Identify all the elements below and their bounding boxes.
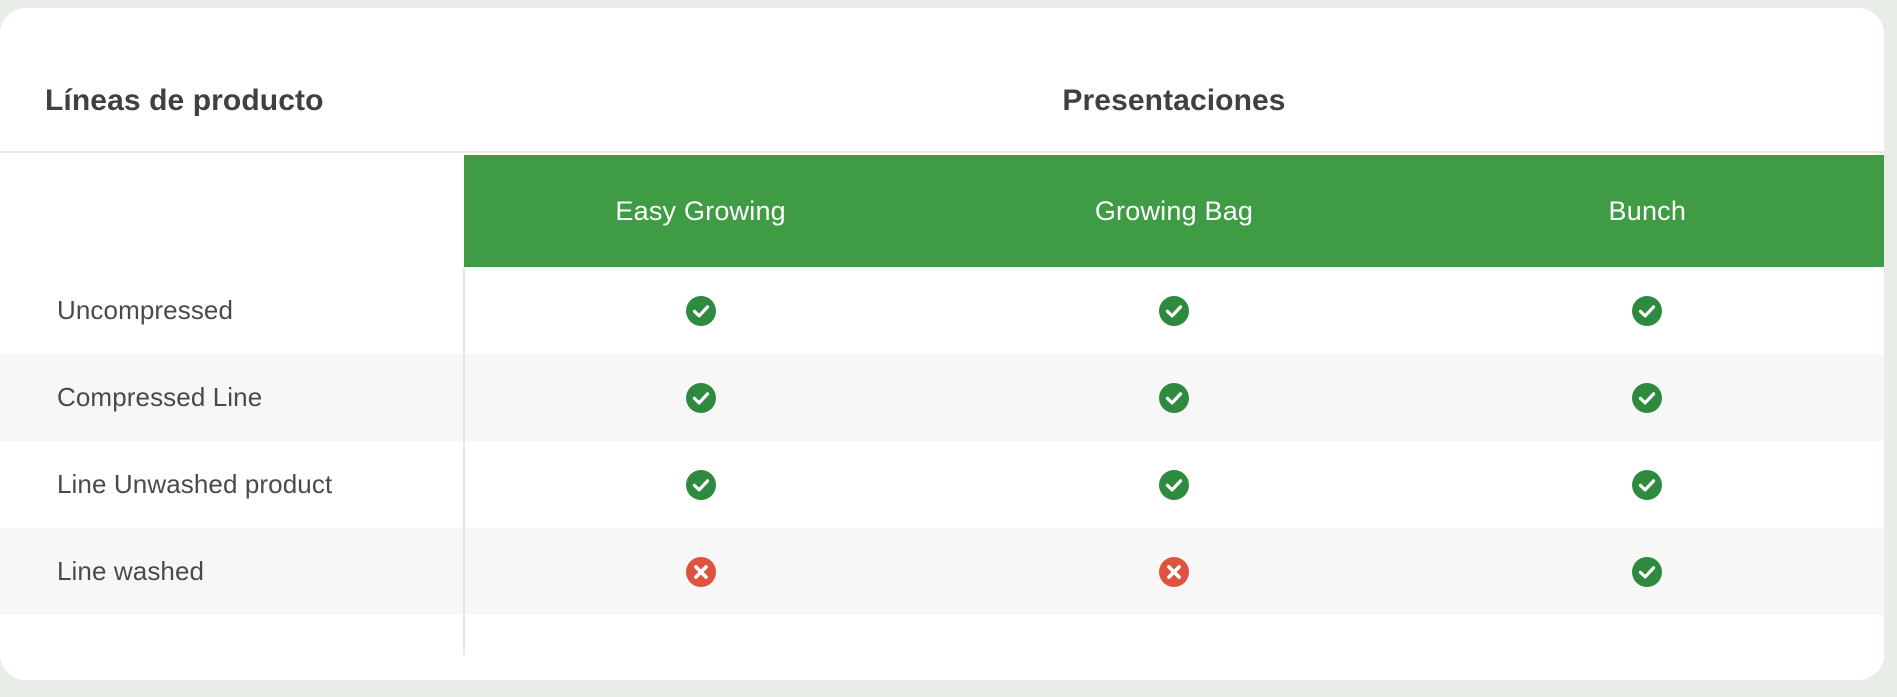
cell-line-washed-easy-growing — [464, 528, 937, 615]
check-circle-icon — [1159, 470, 1189, 500]
check-circle-icon — [1632, 296, 1662, 326]
column-header-easy-growing: Easy Growing — [464, 155, 937, 267]
cell-uncompressed-growing-bag — [937, 267, 1410, 354]
cell-compressed-line-easy-growing — [464, 354, 937, 441]
row-label-line-unwashed-product: Line Unwashed product — [0, 469, 464, 500]
table-row: Line washed — [0, 528, 1884, 615]
cell-line-washed-growing-bag — [937, 528, 1410, 615]
cell-line-washed-bunch — [1411, 528, 1884, 615]
check-circle-icon — [1632, 383, 1662, 413]
comparison-card: Líneas de producto Presentaciones Easy G… — [0, 8, 1884, 680]
column-header-bunch: Bunch — [1411, 155, 1884, 267]
row-label-uncompressed: Uncompressed — [0, 295, 464, 326]
row-label-compressed-line: Compressed Line — [0, 382, 464, 413]
check-circle-icon — [1632, 557, 1662, 587]
table-row: Uncompressed — [0, 267, 1884, 354]
check-circle-icon — [1632, 470, 1662, 500]
cell-line-unwashed-product-easy-growing — [464, 441, 937, 528]
header-corner-cell — [0, 155, 464, 267]
check-circle-icon — [686, 470, 716, 500]
table-row: Compressed Line — [0, 354, 1884, 441]
cell-line-unwashed-product-growing-bag — [937, 441, 1410, 528]
cell-compressed-line-bunch — [1411, 354, 1884, 441]
cell-compressed-line-growing-bag — [937, 354, 1410, 441]
cross-circle-icon — [686, 557, 716, 587]
column-header-growing-bag: Growing Bag — [937, 155, 1410, 267]
row-cells — [464, 354, 1884, 441]
column-header-row: Easy Growing Growing Bag Bunch — [464, 155, 1884, 267]
row-cells — [464, 528, 1884, 615]
cell-line-unwashed-product-bunch — [1411, 441, 1884, 528]
page-root: Líneas de producto Presentaciones Easy G… — [0, 0, 1897, 697]
check-circle-icon — [1159, 383, 1189, 413]
cross-circle-icon — [1159, 557, 1189, 587]
check-circle-icon — [686, 383, 716, 413]
table-body: Uncompressed — [0, 267, 1884, 615]
table-row: Line Unwashed product — [0, 441, 1884, 528]
check-circle-icon — [686, 296, 716, 326]
page-title-product-lines: Líneas de producto — [45, 84, 324, 118]
row-cells — [464, 267, 1884, 354]
check-circle-icon — [1159, 296, 1189, 326]
row-cells — [464, 441, 1884, 528]
page-title-presentations: Presentaciones — [464, 84, 1884, 118]
column-divider — [463, 267, 465, 680]
row-label-line-washed: Line washed — [0, 556, 464, 587]
cell-uncompressed-bunch — [1411, 267, 1884, 354]
table-footer-strip — [0, 655, 1884, 680]
title-band: Líneas de producto Presentaciones — [0, 8, 1884, 153]
cell-uncompressed-easy-growing — [464, 267, 937, 354]
